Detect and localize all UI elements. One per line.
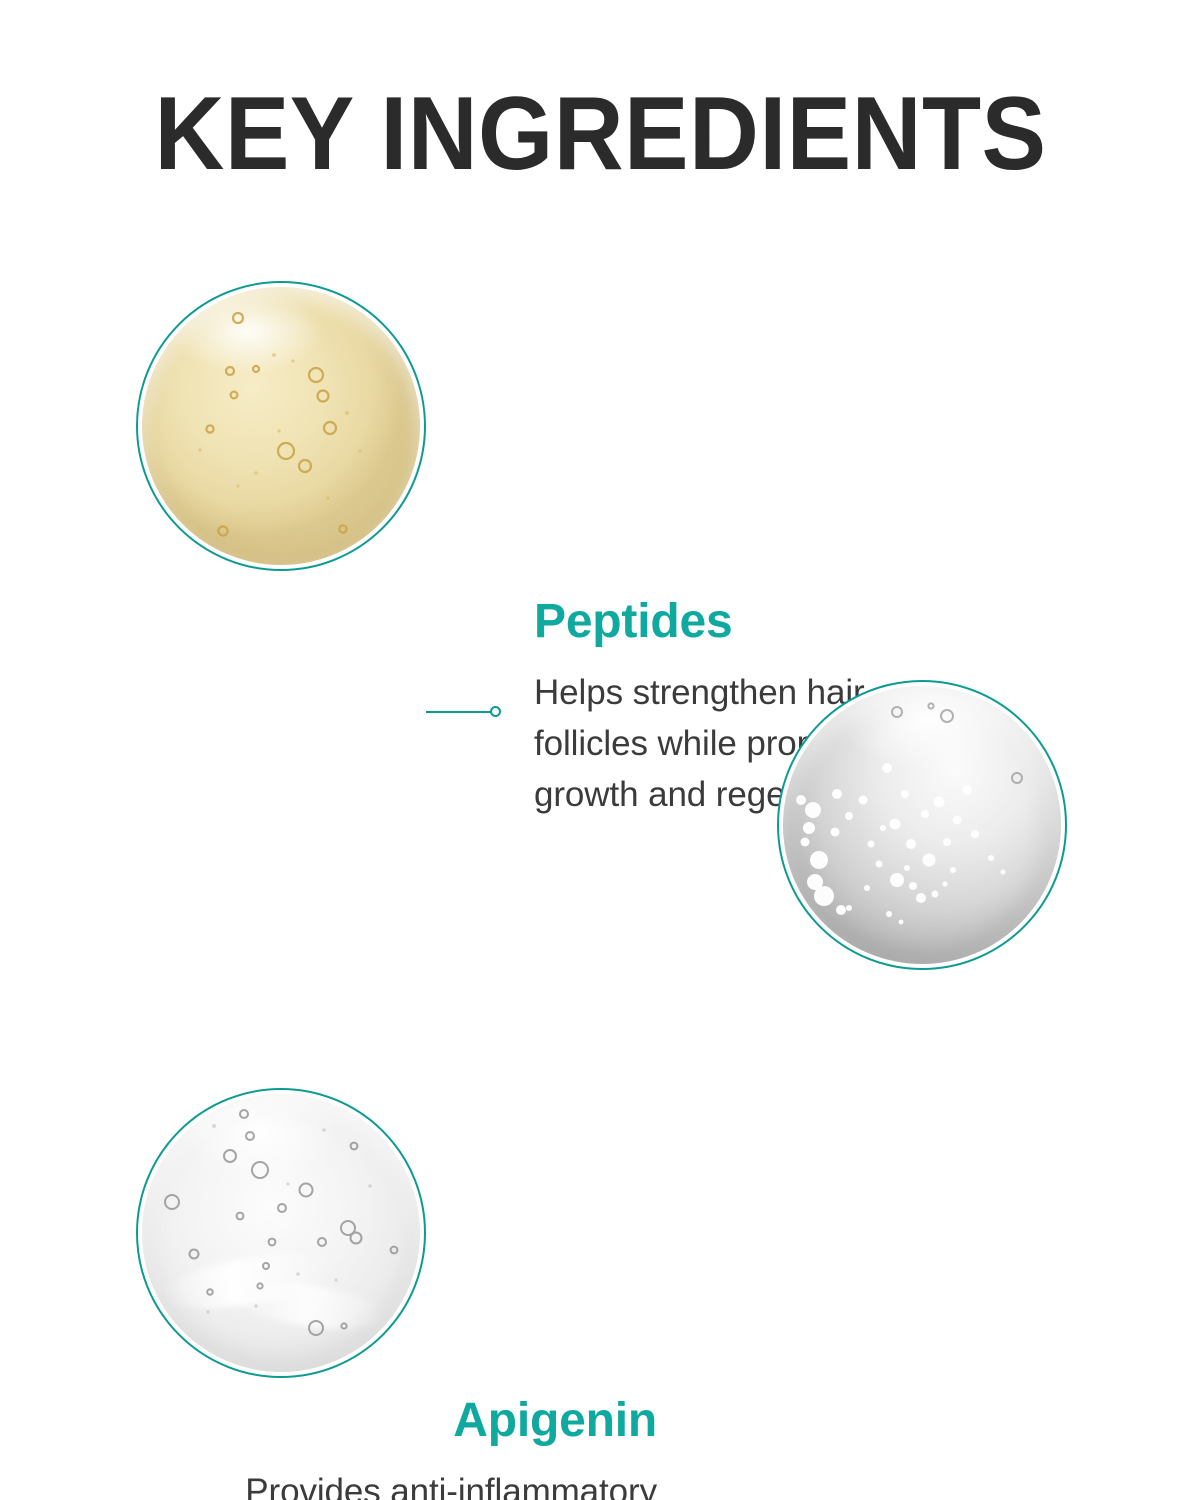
ingredient-title-apigenin: Apigenin: [130, 1394, 657, 1448]
biotinoyl-tripeptide-swatch-image: [136, 1088, 426, 1378]
biotinoyl-bubbles-icon: [138, 1090, 426, 1378]
ingredient-title-peptides: Peptides: [534, 595, 1054, 649]
desc-line: Provides anti-inflammatory: [245, 1472, 657, 1500]
page-title: KEY INGREDIENTS: [42, 74, 1159, 194]
key-ingredients-infographic: KEY INGREDIENTS: [0, 0, 1201, 1500]
apigenin-swatch-image: [777, 680, 1067, 970]
peptides-swatch-image: [136, 281, 426, 571]
apigenin-text-block: Apigenin Provides anti-inflammatory and …: [130, 1394, 657, 1500]
peptides-bubbles-icon: [138, 283, 426, 571]
ingredient-row-apigenin: Apigenin Provides anti-inflammatory and …: [0, 680, 1201, 980]
ingredient-row-peptides: Peptides Helps strengthen hair follicles…: [0, 281, 1201, 581]
apigenin-bubbles-icon: [779, 682, 1067, 970]
ingredient-row-biotinoyl-tripeptide-1: Biotinoyl Tripeptide-1 Helps strengthen …: [0, 1088, 1201, 1388]
ingredient-description-apigenin: Provides anti-inflammatory and antioxida…: [130, 1466, 657, 1500]
